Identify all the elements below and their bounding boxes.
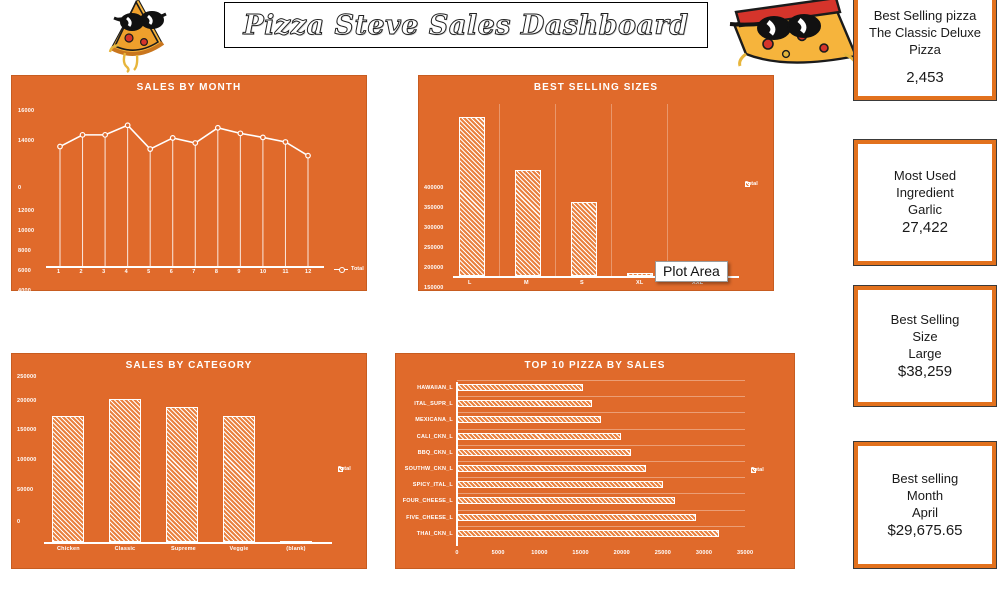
kpi-card-best-selling-size[interactable]: Best Selling Size Large $38,259 — [854, 286, 996, 406]
x-tick-label: 9 — [237, 269, 240, 275]
bar[interactable] — [515, 170, 541, 276]
gridline — [457, 493, 745, 494]
chart-top-10-pizza-by-sales[interactable]: TOP 10 PIZZA BY SALES HAWAIIAN_LITAL_SUP… — [395, 353, 795, 569]
y-tick-label: 2000 — [18, 308, 31, 314]
y-tick-label: 250000 — [17, 374, 37, 380]
y-tick-label: CALI_CKN_L — [396, 434, 453, 440]
kpi-label: Best selling — [892, 470, 958, 487]
kpi-label: Garlic — [908, 201, 942, 218]
x-tick-label: 5000 — [490, 550, 506, 556]
gridline — [457, 477, 745, 478]
kpi-label: Large — [908, 345, 941, 362]
gridline — [457, 412, 745, 413]
y-tick-label: 50000 — [17, 487, 33, 493]
y-tick-label: 200000 — [17, 398, 37, 404]
y-tick-label: SOUTHW_CKN_L — [396, 466, 453, 472]
chart-title: BEST SELLING SIZES — [419, 82, 773, 93]
y-tick-label: 0 — [17, 519, 20, 525]
y-tick-label: FOUR_CHEESE_L — [396, 498, 453, 504]
bar[interactable] — [166, 407, 198, 542]
gridline — [457, 396, 745, 397]
y-tick-label: BBQ_CKN_L — [396, 450, 453, 456]
x-tick-label: 10 — [260, 269, 267, 275]
y-tick-label: 50000 — [424, 325, 440, 331]
bar[interactable] — [52, 416, 84, 542]
bar[interactable] — [457, 530, 719, 537]
kpi-label: Best Selling pizza — [874, 7, 977, 24]
y-tick-label: 10000 — [18, 228, 34, 234]
x-axis-line — [46, 266, 324, 268]
y-tick-label: 250000 — [424, 245, 444, 251]
x-tick-label: 6 — [170, 269, 173, 275]
pizza-slice-mascot-icon — [92, 0, 196, 74]
y-tick-label: 14000 — [18, 138, 34, 144]
kpi-value: $29,675.65 — [887, 521, 962, 541]
bar[interactable] — [223, 416, 255, 542]
gridline — [457, 461, 745, 462]
bar[interactable] — [571, 202, 597, 276]
gridline — [499, 104, 500, 276]
legend-bar-swatch-icon — [751, 468, 756, 473]
x-tick-label: 0 — [449, 550, 465, 556]
bar[interactable] — [457, 481, 663, 488]
y-axis-line — [456, 382, 458, 546]
kpi-label: Ingredient — [896, 184, 954, 201]
chart-legend[interactable]: Total — [751, 467, 764, 473]
x-tick-label: Chicken — [57, 546, 79, 552]
gridline — [457, 380, 745, 381]
gridline — [667, 104, 668, 276]
x-tick-label: Supreme — [171, 546, 193, 552]
bar[interactable] — [457, 400, 592, 407]
x-tick-label: 20000 — [614, 550, 630, 556]
x-tick-label: 1 — [57, 269, 60, 275]
x-tick-label: 12 — [305, 269, 312, 275]
y-tick-label: 12000 — [18, 208, 34, 214]
y-tick-label: 8000 — [18, 248, 31, 254]
x-tick-label: 3 — [102, 269, 105, 275]
bar[interactable] — [459, 117, 485, 276]
kpi-value: 2,453 — [906, 68, 944, 88]
kpi-label: Size — [912, 328, 937, 345]
plot-area-tooltip: Plot Area — [655, 261, 728, 282]
x-tick-label: 35000 — [737, 550, 753, 556]
gridline — [555, 104, 556, 276]
kpi-label: Most Used — [894, 167, 956, 184]
dashboard-title-box: Pizza Steve Sales Dashboard — [224, 2, 708, 48]
chart-sales-by-month[interactable]: SALES BY MONTH 0 0 2000 4000 6000 8000 1… — [11, 75, 367, 291]
kpi-label: Month — [907, 487, 943, 504]
x-tick-label: 8 — [215, 269, 218, 275]
y-tick-label: 350000 — [424, 205, 444, 211]
x-tick-label: L — [468, 280, 472, 286]
gridline — [611, 104, 612, 276]
chart-sales-by-category[interactable]: SALES BY CATEGORY 0 50000 100000 150000 … — [11, 353, 367, 569]
legend-bar-swatch-icon — [745, 182, 750, 187]
chart-title: SALES BY CATEGORY — [12, 360, 366, 371]
kpi-card-best-selling-pizza[interactable]: Best Selling pizza The Classic Deluxe Pi… — [854, 0, 996, 100]
kpi-value: 27,422 — [902, 218, 948, 238]
y-tick-label: 0 — [18, 325, 21, 331]
x-tick-label: 7 — [192, 269, 195, 275]
x-tick-label: Classic — [114, 546, 136, 552]
chart-title: TOP 10 PIZZA BY SALES — [396, 360, 794, 371]
y-tick-label: FIVE_CHEESE_L — [396, 515, 453, 521]
y-tick-label: THAI_CKN_L — [396, 531, 453, 537]
bar[interactable] — [457, 514, 696, 521]
kpi-card-best-selling-month[interactable]: Best selling Month April $29,675.65 — [854, 442, 996, 568]
y-tick-label: 100000 — [424, 305, 444, 311]
x-tick-label: S — [580, 280, 584, 286]
y-tick-label: 300000 — [424, 225, 444, 231]
x-tick-label: 10000 — [531, 550, 547, 556]
x-tick-label: 5 — [147, 269, 150, 275]
y-tick-label: ITAL_SUPR_L — [396, 401, 453, 407]
gridline — [457, 526, 745, 527]
y-tick-label: 200000 — [424, 265, 444, 271]
bar[interactable] — [457, 416, 601, 423]
x-tick-label: 30000 — [696, 550, 712, 556]
kpi-label: April — [912, 504, 938, 521]
y-tick-label: 6000 — [18, 268, 31, 274]
gridline — [457, 510, 745, 511]
chart-legend[interactable]: Total — [334, 266, 364, 272]
y-tick-label: 150000 — [17, 427, 37, 433]
bar[interactable] — [109, 399, 141, 542]
x-tick-label: XL — [636, 280, 643, 286]
y-tick-label: 400000 — [424, 185, 444, 191]
x-tick-label: M — [524, 280, 529, 286]
dashboard-header: Pizza Steve Sales Dashboard — [0, 0, 1000, 72]
gridline — [457, 445, 745, 446]
x-tick-label: (blank) — [285, 546, 307, 552]
chart-legend[interactable]: Total — [338, 466, 351, 472]
chart-best-selling-sizes[interactable]: BEST SELLING SIZES 0 50000 100000 150000… — [418, 75, 774, 291]
kpi-label: Pizza — [909, 41, 941, 58]
chart-title: SALES BY MONTH — [12, 82, 366, 93]
kpi-label: Best Selling — [891, 311, 960, 328]
legend-bar-swatch-icon — [338, 467, 343, 472]
bar[interactable] — [457, 465, 646, 472]
bar[interactable] — [457, 433, 621, 440]
gridline — [457, 429, 745, 430]
bar[interactable] — [457, 384, 583, 391]
y-tick-label: 100000 — [17, 457, 37, 463]
y-tick-label: MEXICANA_L — [396, 417, 453, 423]
x-tick-label: 11 — [282, 269, 288, 275]
x-tick-label: 2 — [80, 269, 83, 275]
pizza-slice-mascot-icon — [716, 0, 866, 70]
kpi-label: The Classic Deluxe — [869, 24, 981, 41]
kpi-card-most-used-ingredient[interactable]: Most Used Ingredient Garlic 27,422 — [854, 140, 996, 265]
y-tick-label: SPICY_ITAL_L — [396, 482, 453, 488]
y-tick-label: 150000 — [424, 285, 444, 291]
y-tick-label: HAWAIIAN_L — [396, 385, 453, 391]
page-title: Pizza Steve Sales Dashboard — [243, 10, 688, 41]
y-tick-label: 4000 — [18, 288, 31, 294]
x-axis-line — [44, 542, 332, 544]
x-tick-label: 4 — [125, 269, 128, 275]
y-tick-label: 16000 — [18, 108, 34, 114]
legend-line-marker-icon — [334, 267, 348, 271]
legend-label: Total — [351, 266, 364, 272]
x-tick-label: 25000 — [655, 550, 671, 556]
chart-legend[interactable]: Total — [745, 181, 758, 187]
kpi-value: $38,259 — [898, 362, 952, 382]
bar[interactable] — [457, 449, 631, 456]
x-tick-label: Veggie — [228, 546, 250, 552]
x-tick-label: 15000 — [572, 550, 588, 556]
bar[interactable] — [457, 497, 675, 504]
line-series-total — [48, 104, 320, 266]
y-tick-label: 0 — [18, 185, 21, 191]
